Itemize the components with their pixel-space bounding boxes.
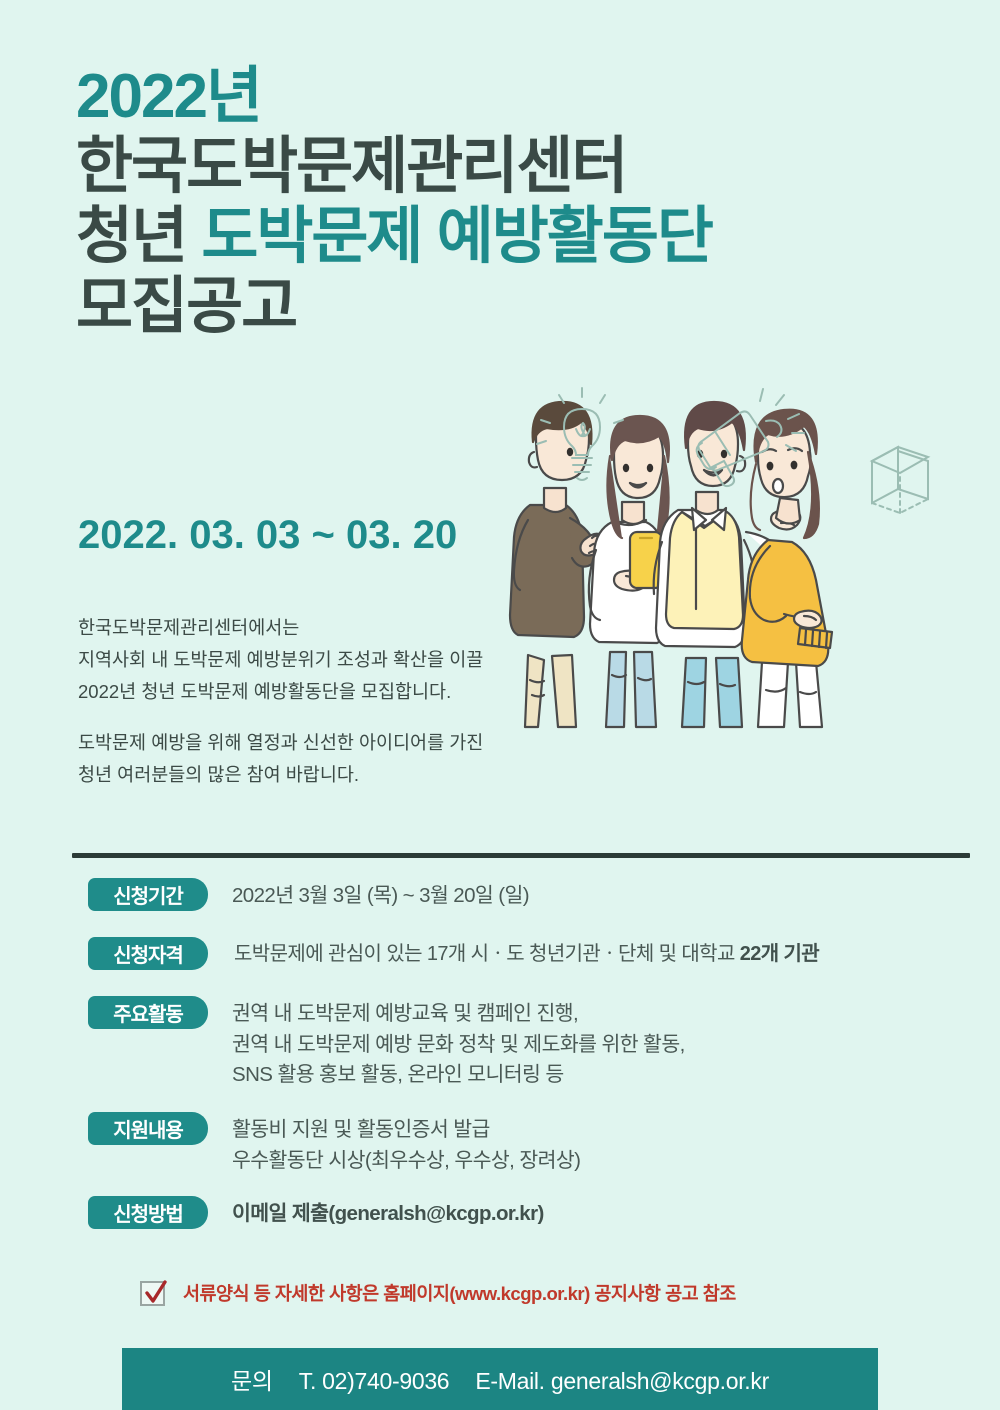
detail-text-method: 이메일 제출(generalsh@kcgp.or.kr)	[232, 1196, 544, 1229]
badge-activity: 주요활동	[88, 996, 208, 1029]
footer-phone: T. 02)740-9036	[299, 1368, 450, 1394]
title-program-teal: 도박문제 예방활동단	[201, 202, 712, 271]
intro-p1-l1: 한국도박문제관리센터에서는	[78, 612, 548, 644]
intro-p1-l3: 2022년 청년 도박문제 예방활동단을 모집합니다.	[78, 676, 548, 708]
footer-email: E-Mail. generalsh@kcgp.or.kr	[475, 1368, 769, 1394]
detail-row-activity: 주요활동 권역 내 도박문제 예방교육 및 캠페인 진행, 권역 내 도박문제 …	[88, 996, 988, 1090]
title-line-announce: 모집공고	[76, 276, 976, 338]
intro-p1-l2: 지역사회 내 도박문제 예방분위기 조성과 확산을 이끌	[78, 644, 548, 676]
poster-root: 2022년 한국도박문제관리센터 청년 도박문제 예방활동단 모집공고 2022…	[0, 0, 1000, 1410]
detail-text-period: 2022년 3월 3일 (목) ~ 3월 20일 (일)	[232, 878, 529, 911]
date-range: 2022. 03. 03 ~ 03. 20	[78, 513, 457, 558]
detail-row-qualification: 신청자격 도박문제에 관심이 있는 17개 시ㆍ도 청년기관ㆍ단체 및 대학교 …	[88, 937, 988, 970]
detail-row-method: 신청방법 이메일 제출(generalsh@kcgp.or.kr)	[88, 1196, 988, 1229]
doodle-decorations	[520, 385, 980, 545]
badge-support: 지원내용	[88, 1112, 208, 1145]
lightbulb-doodle-icon	[537, 388, 623, 480]
title-program-dark: 청년	[76, 202, 201, 271]
detail-text-activity: 권역 내 도박문제 예방교육 및 캠페인 진행, 권역 내 도박문제 예방 문화…	[232, 996, 685, 1090]
contact-footer: 문의T. 02)740-9036E-Mail. generalsh@kcgp.o…	[122, 1348, 878, 1410]
badge-qualification: 신청자격	[88, 937, 208, 970]
title-line-program: 청년 도박문제 예방활동단	[76, 206, 976, 268]
footer-inquiry-label: 문의	[231, 1368, 273, 1394]
paragraph-gap	[78, 707, 548, 727]
page-title: 2022년 한국도박문제관리센터 청년 도박문제 예방활동단 모집공고	[76, 66, 976, 338]
detail-row-support: 지원내용 활동비 지원 및 활동인증서 발급 우수활동단 시상(최우수상, 우수…	[88, 1112, 988, 1176]
footer-contact-text: 문의T. 02)740-9036E-Mail. generalsh@kcgp.o…	[231, 1362, 769, 1396]
horizontal-divider	[72, 853, 970, 858]
detail-text-qualification: 도박문제에 관심이 있는 17개 시ㆍ도 청년기관ㆍ단체 및 대학교 22개 기…	[234, 937, 819, 970]
intro-p2-l2: 청년 여러분들의 많은 참여 바랍니다.	[78, 759, 548, 791]
detail-rows: 신청기간 2022년 3월 3일 (목) ~ 3월 20일 (일) 신청자격 도…	[88, 878, 988, 1247]
detail-text-support: 활동비 지원 및 활동인증서 발급 우수활동단 시상(최우수상, 우수상, 장려…	[232, 1112, 580, 1176]
badge-method: 신청방법	[88, 1196, 208, 1229]
title-line-year: 2022년	[76, 66, 976, 128]
intro-p2-l1: 도박문제 예방을 위해 열정과 신선한 아이디어를 가진	[78, 727, 548, 759]
intro-paragraphs: 한국도박문제관리센터에서는 지역사회 내 도박문제 예방분위기 조성과 확산을 …	[78, 612, 548, 791]
checkbox-checked-icon	[140, 1281, 165, 1306]
reference-note: 서류양식 등 자세한 사항은 홈페이지(www.kcgp.or.kr) 공지사항…	[140, 1280, 736, 1306]
cube-doodle-icon	[872, 447, 928, 513]
qualification-normal: 도박문제에 관심이 있는 17개 시ㆍ도 청년기관ㆍ단체 및 대학교	[234, 943, 740, 965]
title-line-org: 한국도박문제관리센터	[76, 136, 976, 198]
qualification-bold: 22개 기관	[740, 943, 819, 965]
badge-period: 신청기간	[88, 878, 208, 911]
detail-row-period: 신청기간 2022년 3월 3일 (목) ~ 3월 20일 (일)	[88, 878, 988, 911]
megaphone-doodle-icon	[697, 389, 804, 486]
note-text: 서류양식 등 자세한 사항은 홈페이지(www.kcgp.or.kr) 공지사항…	[183, 1280, 736, 1306]
